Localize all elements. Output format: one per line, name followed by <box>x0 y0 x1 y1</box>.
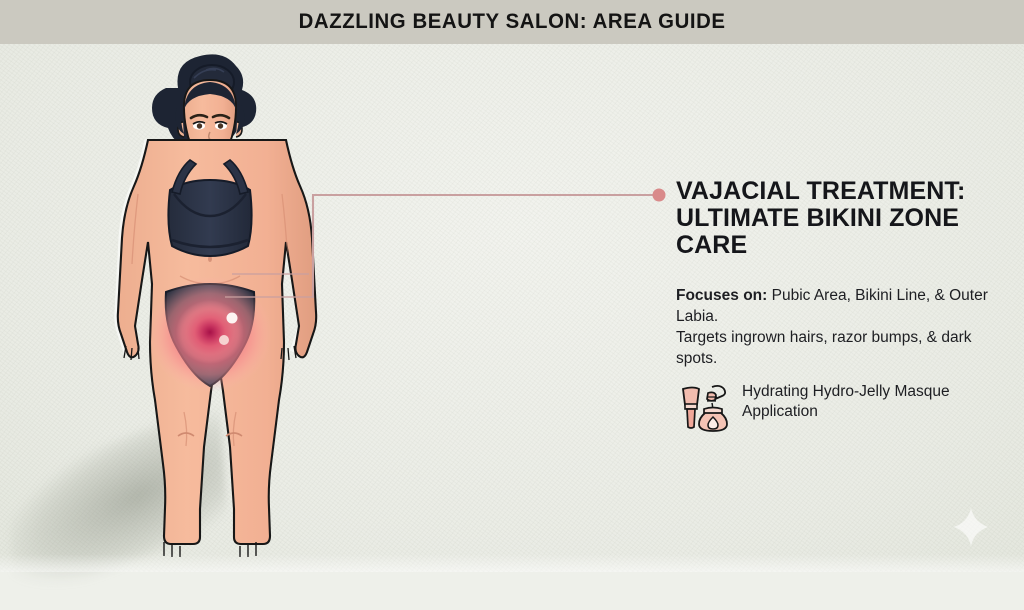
header-bar: DAZZLING BEAUTY SALON: AREA GUIDE <box>0 0 1024 44</box>
masque-row: Hydrating Hydro-Jelly Masque Application <box>676 382 1000 438</box>
masque-caption: Hydrating Hydro-Jelly Masque Application <box>742 382 1000 422</box>
callout-panel: VAJACIAL TREATMENT: ULTIMATE BIKINI ZONE… <box>676 178 1000 438</box>
infographic-canvas: DAZZLING BEAUTY SALON: AREA GUIDE <box>0 0 1024 572</box>
connector-endpoint-dot <box>653 189 666 202</box>
targets-line: Targets ingrown hairs, razor bumps, & da… <box>676 327 1000 369</box>
bottom-fade <box>0 554 1024 572</box>
focus-line: Focuses on: Pubic Area, Bikini Line, & O… <box>676 285 1000 327</box>
callout-heading: VAJACIAL TREATMENT: ULTIMATE BIKINI ZONE… <box>676 178 1000 259</box>
page-title: DAZZLING BEAUTY SALON: AREA GUIDE <box>298 10 725 34</box>
brush-and-jelly-jar-icon <box>676 383 732 438</box>
sparkle-icon <box>954 508 988 546</box>
focus-label: Focuses on: <box>676 287 767 304</box>
callout-body: Focuses on: Pubic Area, Bikini Line, & O… <box>676 285 1000 369</box>
